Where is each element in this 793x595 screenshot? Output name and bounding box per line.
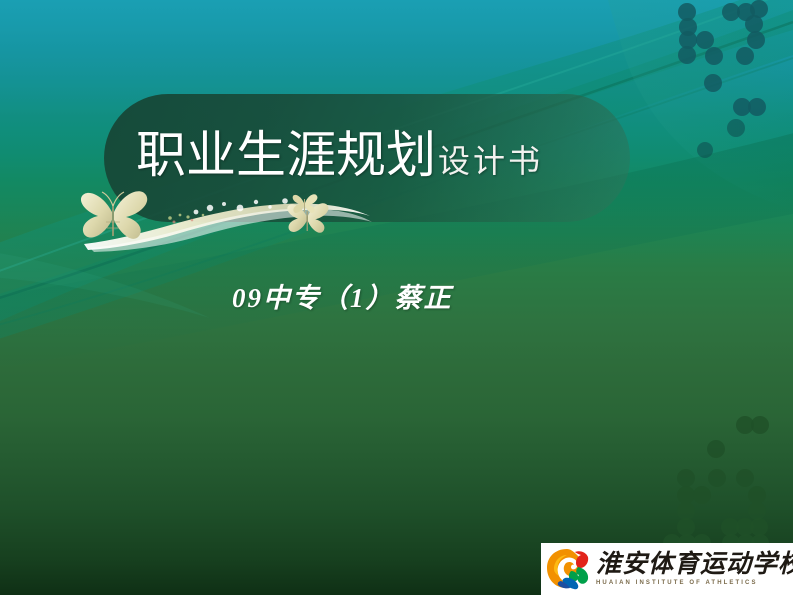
- school-name-cn: 淮安体育运动学校: [596, 552, 793, 578]
- school-name-en: HUAIAN INSTITUTE OF ATHLETICS: [596, 580, 793, 586]
- school-logo-text: 淮安体育运动学校 HUAIAN INSTITUTE OF ATHLETICS: [596, 552, 793, 586]
- presentation-slide: 职业生涯规划 设计书: [0, 0, 793, 595]
- school-logo: 淮安体育运动学校 HUAIAN INSTITUTE OF ATHLETICS: [541, 543, 793, 595]
- subtitle-text: 09中专（1）蔡正: [232, 276, 453, 315]
- page-title: 职业生涯规划 设计书: [136, 130, 543, 180]
- title-sub-text: 设计书: [436, 145, 543, 177]
- huaian-sports-school-logo-icon: [545, 547, 591, 591]
- title-main-text: 职业生涯规划: [136, 130, 436, 180]
